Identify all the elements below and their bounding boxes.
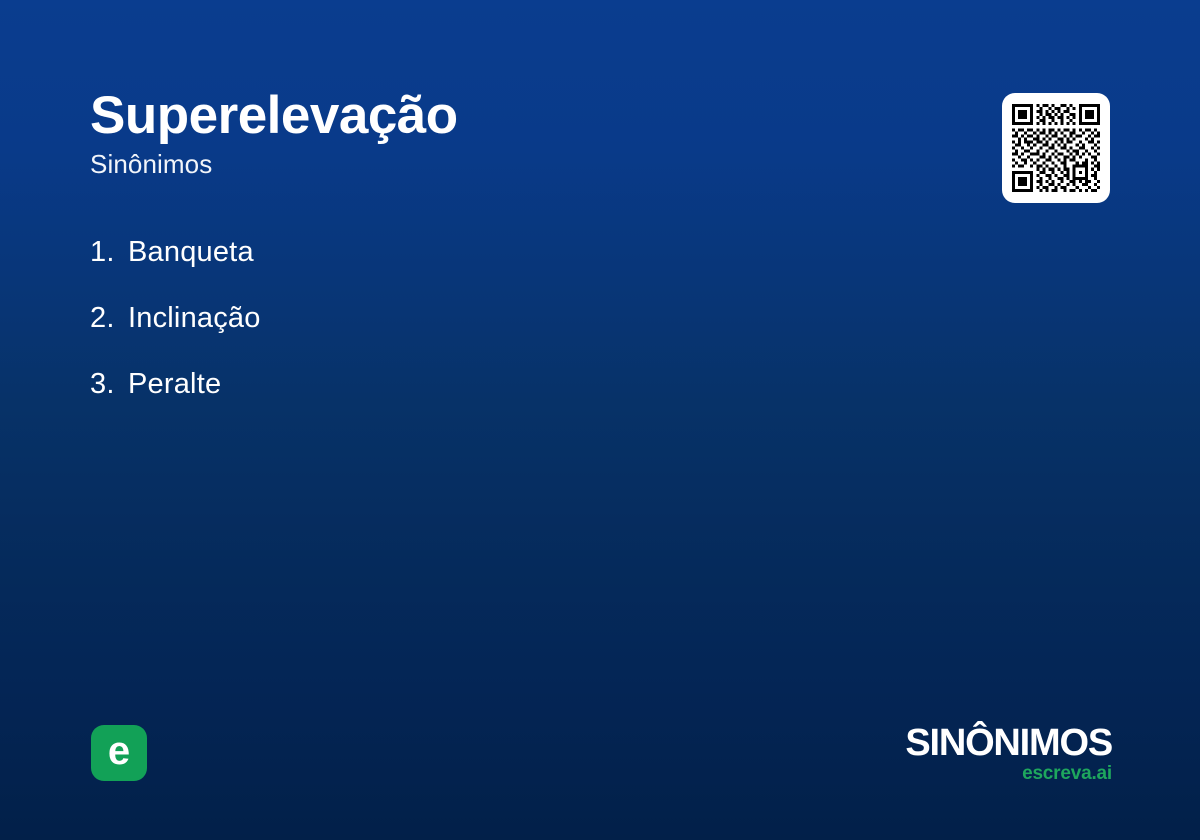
page-subtitle: Sinônimos <box>90 150 950 180</box>
list-item: 1. Banqueta <box>90 236 910 302</box>
list-item-index: 1. <box>90 236 128 269</box>
escreva-e-badge-icon[interactable]: e <box>91 725 147 781</box>
synonyms-card: Superelevação Sinônimos 1. Banqueta 2. I… <box>0 0 1200 840</box>
page-title: Superelevação <box>90 88 950 144</box>
list-item: 3. Peralte <box>90 368 910 434</box>
qr-code-icon <box>1012 104 1100 192</box>
list-item-index: 3. <box>90 368 128 401</box>
brand-badge-letter: e <box>108 731 130 771</box>
header: Superelevação Sinônimos <box>90 88 950 180</box>
list-item-term: Inclinação <box>128 302 261 335</box>
wordmark-main: SINÔNIMOS <box>905 724 1112 762</box>
list-item: 2. Inclinação <box>90 302 910 368</box>
list-item-index: 2. <box>90 302 128 335</box>
synonyms-list: 1. Banqueta 2. Inclinação 3. Peralte <box>90 236 910 434</box>
list-item-term: Banqueta <box>128 236 254 269</box>
qr-code-panel[interactable] <box>1002 93 1110 203</box>
wordmark[interactable]: SINÔNIMOS escreva.ai <box>905 724 1112 783</box>
wordmark-sub: escreva.ai <box>905 764 1112 783</box>
list-item-term: Peralte <box>128 368 221 401</box>
